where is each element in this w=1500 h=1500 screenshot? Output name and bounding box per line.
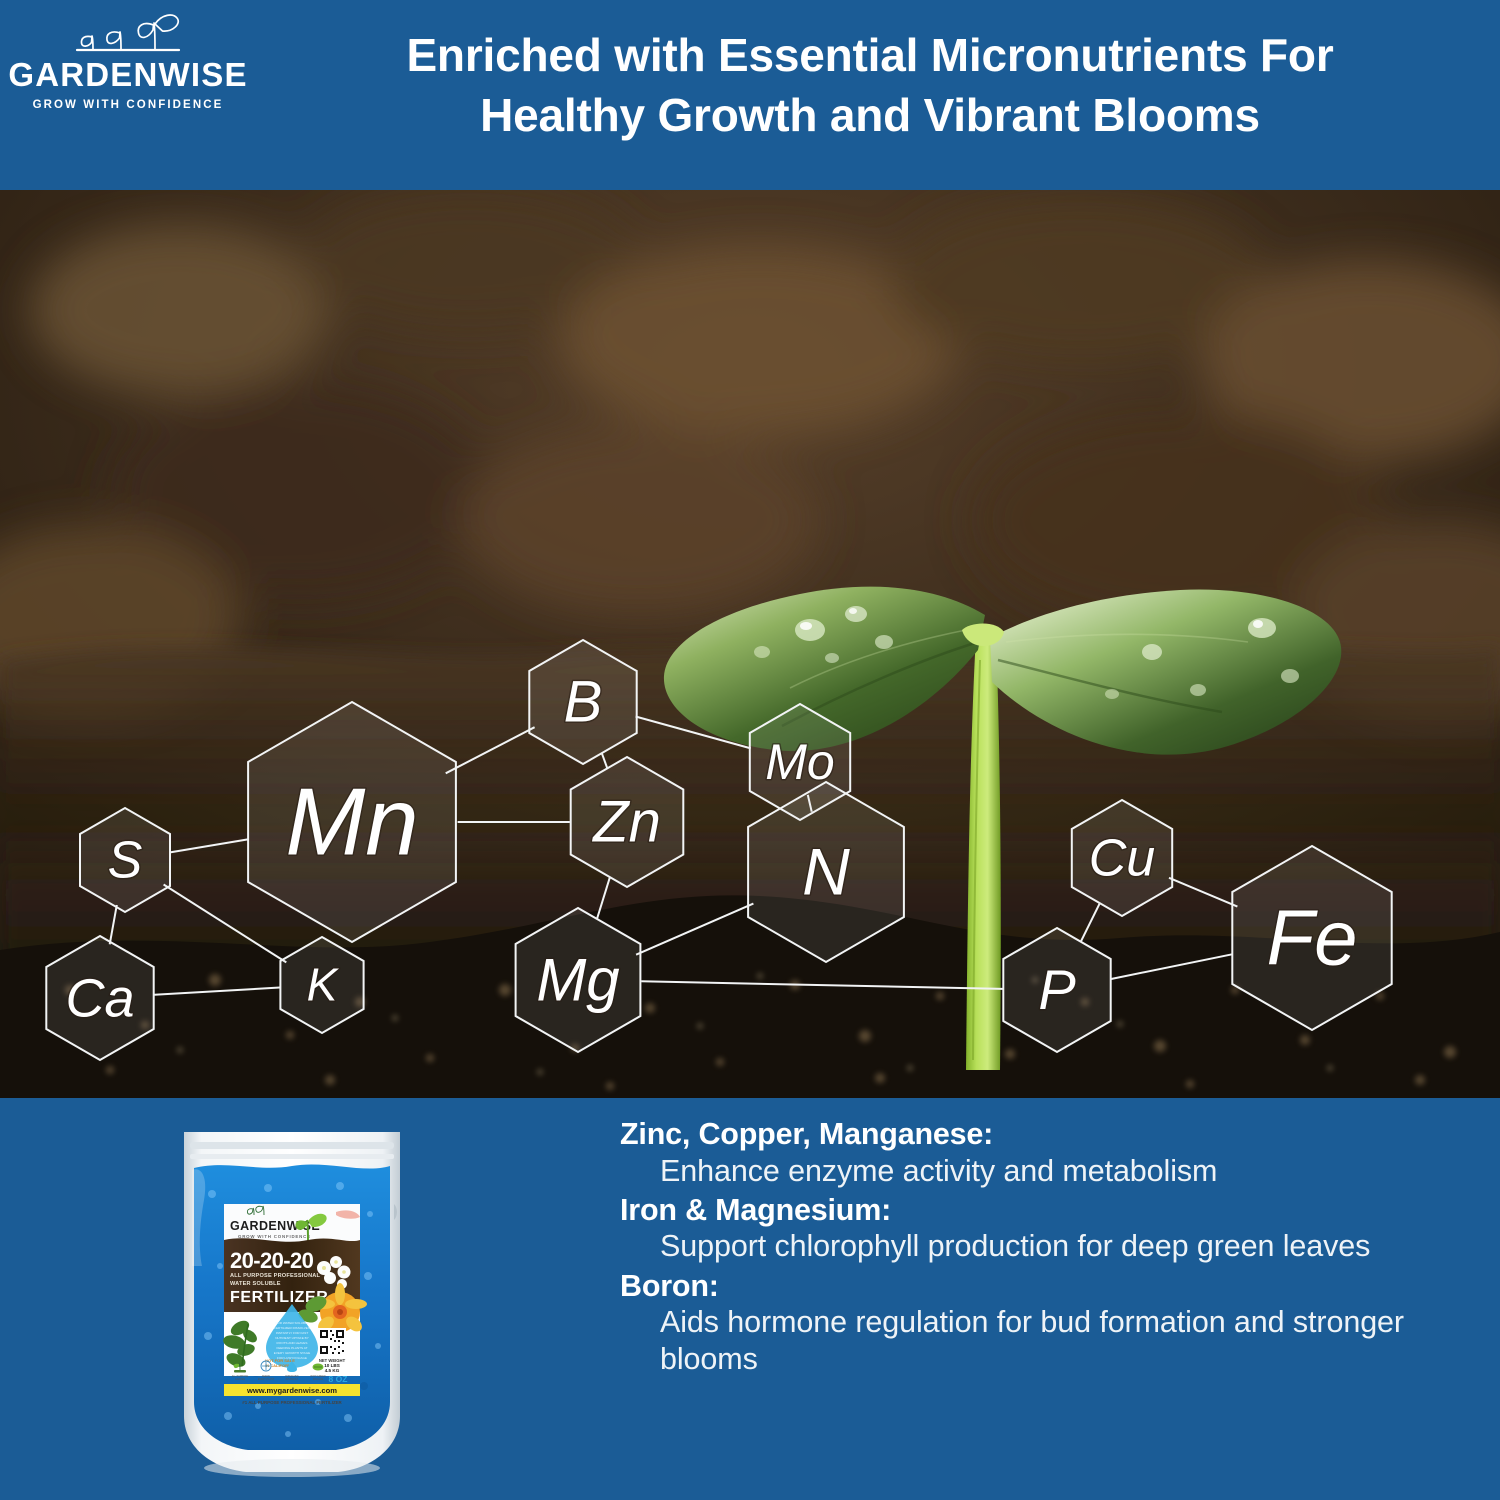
svg-text:ALL PURPOSE PROFESSIONAL: ALL PURPOSE PROFESSIONAL [230, 1273, 321, 1279]
nutrient-label-cu: Cu [1089, 830, 1155, 888]
nutrient-link-Ca-K [155, 988, 280, 995]
nutrient-hexagon-diagram: SCaKMnBZnMgMoNCuPFe [0, 190, 1500, 1098]
nutrient-link-B-Zn [602, 753, 608, 768]
benefits-panel: GARDENWISE GROW WITH CONFIDENCE 20-20-20… [0, 1098, 1500, 1500]
svg-text:INSTANTLY FOR FAST: INSTANTLY FOR FAST [276, 1331, 309, 1335]
sprout-leaves-icon [63, 10, 193, 56]
svg-text:NUTRIENT UPTAKE BY: NUTRIENT UPTAKE BY [275, 1336, 309, 1340]
svg-text:EVERY PLANT: EVERY PLANT [258, 1378, 275, 1381]
nutrient-node-ca: Ca [46, 936, 153, 1060]
svg-text:GROW WITH CONFIDENCE: GROW WITH CONFIDENCE [238, 1234, 311, 1239]
svg-text:20-20-20: 20-20-20 [230, 1248, 314, 1273]
nutrient-network-svg: SCaKMnBZnMgMoNCuPFe [0, 190, 1500, 1098]
svg-text:WATER SOLUBLE: WATER SOLUBLE [230, 1281, 281, 1287]
nutrient-label-mo: Mo [765, 734, 834, 790]
nutrient-node-b: B [529, 640, 636, 764]
nutrient-link-Cu-P [1081, 904, 1099, 941]
nutrient-label-fe: Fe [1266, 894, 1357, 982]
nutrient-link-S-Mn [170, 839, 248, 852]
benefit-body: Support chlorophyll production for deep … [620, 1228, 1480, 1265]
benefits-list: Zinc, Copper, Manganese: Enhance enzyme … [620, 1116, 1480, 1379]
nutrient-node-cu: Cu [1072, 800, 1172, 916]
benefit-item: Zinc, Copper, Manganese: Enhance enzyme … [620, 1116, 1480, 1190]
header-title-line2: Healthy Growth and Vibrant Blooms [255, 86, 1485, 146]
nutrient-node-s: S [80, 808, 170, 912]
nutrient-link-S-Ca [110, 905, 117, 944]
svg-text:INSTANTLY: INSTANTLY [286, 1378, 299, 1381]
svg-text:FOLIAGE: FOLIAGE [313, 1378, 324, 1381]
nutrient-node-n: N [748, 782, 904, 962]
benefit-item: Boron: Aids hormone regulation for bud f… [620, 1268, 1480, 1379]
nutrient-link-Mg-P [641, 981, 1002, 989]
benefit-item: Iron & Magnesium: Support chlorophyll pr… [620, 1192, 1480, 1266]
benefit-heading: Boron: [620, 1268, 1480, 1305]
header-banner: GARDENWISE GROW WITH CONFIDENCE Enriched… [0, 0, 1500, 190]
brand-name: GARDENWISE [8, 58, 247, 91]
nutrient-link-P-Fe [1111, 954, 1233, 979]
nutrient-link-S-K [164, 885, 287, 963]
header-title: Enriched with Essential Micronutrients F… [255, 26, 1485, 146]
header-title-line1: Enriched with Essential Micronutrients F… [406, 29, 1333, 81]
nutrient-link-Mg-N [636, 904, 753, 955]
brand-tagline: GROW WITH CONFIDENCE [33, 99, 224, 111]
nutrient-link-Cu-Fe [1169, 878, 1237, 907]
benefit-body: Aids hormone regulation for bud formatio… [620, 1304, 1480, 1378]
svg-text:4.5 KG: 4.5 KG [325, 1368, 340, 1373]
nutrient-label-zn: Zn [591, 790, 661, 855]
svg-text:#1 ALL PURPOSE PROFESSIONAL FE: #1 ALL PURPOSE PROFESSIONAL FERTILIZER [242, 1400, 342, 1405]
svg-text:8 OZ: 8 OZ [329, 1374, 348, 1384]
nutrient-node-p: P [1003, 928, 1110, 1052]
svg-text:FERTILIZER DISSOLVES: FERTILIZER DISSOLVES [274, 1326, 310, 1330]
nutrient-link-Mn-B [446, 727, 535, 773]
nutrient-label-s: S [108, 832, 143, 890]
nutrient-link-B-Mo [636, 717, 751, 749]
svg-text:www.mygardenwise.com: www.mygardenwise.com [246, 1386, 337, 1395]
hero-photo-seedling-in-soil: SCaKMnBZnMgMoNCuPFe [0, 190, 1500, 1098]
benefit-heading: Zinc, Copper, Manganese: [620, 1116, 1480, 1153]
product-infographic: GARDENWISE GROW WITH CONFIDENCE Enriched… [0, 0, 1500, 1500]
svg-text:OUR WATER SOLUBLE: OUR WATER SOLUBLE [275, 1321, 309, 1325]
benefit-heading: Iron & Magnesium: [620, 1192, 1480, 1229]
nutrient-label-n: N [802, 834, 850, 908]
nutrient-node-mg: Mg [516, 908, 641, 1052]
nutrient-node-mn: Mn [248, 702, 456, 942]
benefit-body: Enhance enzyme activity and metabolism [620, 1153, 1480, 1190]
nutrient-node-fe: Fe [1232, 846, 1391, 1030]
svg-text:EVERY GROWTH STAGE: EVERY GROWTH STAGE [274, 1351, 310, 1355]
brand-logo: GARDENWISE GROW WITH CONFIDENCE [8, 10, 248, 130]
nutrient-label-ca: Ca [65, 968, 134, 1028]
nutrient-node-k: K [280, 937, 363, 1033]
product-bag-image: GARDENWISE GROW WITH CONFIDENCE 20-20-20… [168, 1116, 416, 1482]
nutrient-label-k: K [307, 959, 340, 1011]
svg-text:ROOTS AND LEAVES: ROOTS AND LEAVES [277, 1341, 308, 1345]
svg-text:FEEDING PLANTS AT: FEEDING PLANTS AT [276, 1346, 307, 1350]
nutrient-link-Zn-Mg [597, 877, 610, 920]
nutrient-label-p: P [1038, 958, 1075, 1021]
nutrient-nodes: SCaKMnBZnMgMoNCuPFe [46, 640, 1391, 1060]
svg-text:GARDEN: GARDEN [235, 1378, 246, 1381]
fertilizer-pouch-illustration: GARDENWISE GROW WITH CONFIDENCE 20-20-20… [168, 1116, 416, 1482]
nutrient-node-zn: Zn [571, 757, 684, 887]
nutrient-label-b: B [564, 670, 603, 735]
nutrient-label-mn: Mn [285, 769, 418, 876]
nutrient-label-mg: Mg [536, 946, 619, 1013]
